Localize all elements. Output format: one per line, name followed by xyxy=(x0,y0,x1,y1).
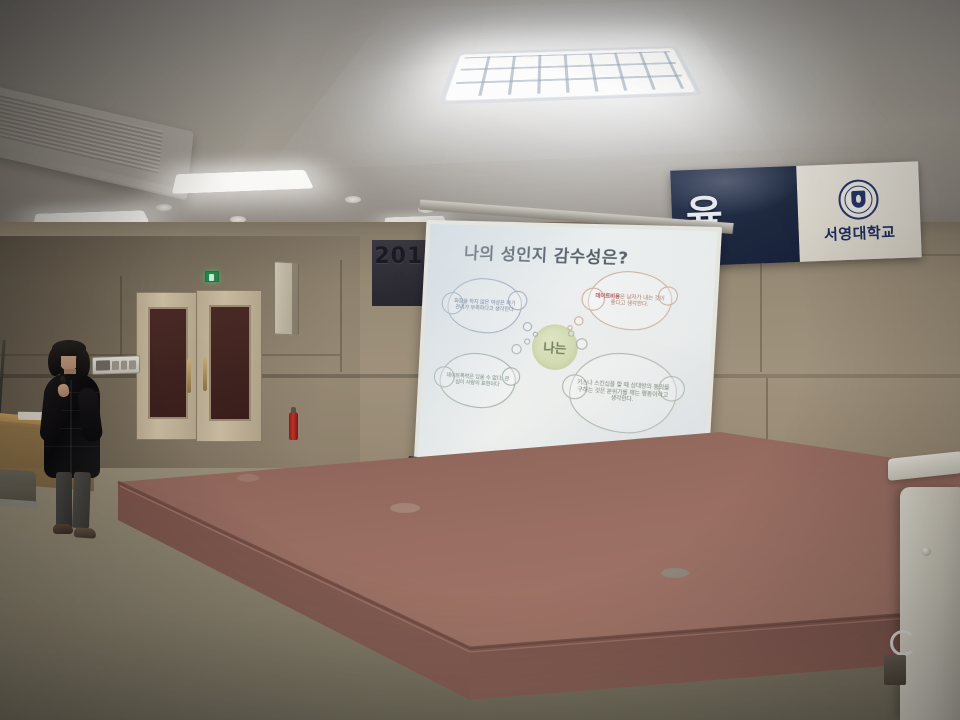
floor-equipment-box xyxy=(884,655,906,685)
podium-knob-icon[interactable] xyxy=(922,547,931,556)
slide-title: 나의 성인지 감수성은? xyxy=(464,239,630,269)
double-entry-doors[interactable] xyxy=(136,292,198,440)
banner-white-section: 서영대학교 xyxy=(796,161,922,262)
presenter-pants-left xyxy=(56,472,72,528)
presenter-glasses xyxy=(60,355,78,360)
control-panel-switch[interactable] xyxy=(129,360,136,369)
projected-slide: 나의 성인지 감수성은? 나는 화장을 하지 않은 여성은 자기관리가 부족하다… xyxy=(418,224,718,484)
presenter-shoe-left xyxy=(53,524,73,534)
control-panel-switch[interactable] xyxy=(121,360,128,369)
downlight-icon xyxy=(345,196,361,203)
wall-speaker-column xyxy=(274,261,299,335)
door-panel xyxy=(209,305,251,421)
door-handle[interactable] xyxy=(187,359,191,393)
recessed-fluorescent-grid-light xyxy=(445,48,696,100)
university-name: 서영대학교 xyxy=(824,221,896,245)
banner-subtitle: 교육·연수 xyxy=(393,271,422,280)
door-handle[interactable] xyxy=(203,357,207,391)
lecture-hall-photo: 2019 교육·연수 육 서영대학교 나의 성인지 감수성은? 나는 xyxy=(0,0,960,720)
light-rim xyxy=(438,46,703,105)
projector-screen: 나의 성인지 감수성은? 나는 화장을 하지 않은 여성은 자기관리가 부족하다… xyxy=(424,224,698,460)
entry-door-right[interactable] xyxy=(196,290,262,442)
presenter-speaker xyxy=(36,340,108,540)
thought-bubble-top-left: 화장을 하지 않은 여성은 자기관리가 부족하다고 생각한다 xyxy=(446,277,523,335)
door-panel xyxy=(148,307,188,419)
slide-center-label: 나는 xyxy=(543,338,567,357)
university-seal-icon xyxy=(838,179,880,221)
thought-bubble-top-right: 데이트비용은 남자가 내는 것이 좋다고 생각한다. xyxy=(586,270,673,333)
presenter-pants-right xyxy=(72,472,91,529)
presenter-hair-left xyxy=(48,348,61,376)
wall-panel-seam xyxy=(760,254,762,372)
fire-extinguisher[interactable] xyxy=(289,412,298,440)
emergency-exit-sign xyxy=(205,271,219,282)
thought-bubble-bottom-left: 데이트폭력은 있을 수 없다. 관심이 사랑의 표현이다 xyxy=(438,351,517,411)
wall-panel-seam xyxy=(766,378,768,498)
control-panel-switch[interactable] xyxy=(112,360,119,369)
white-podium[interactable] xyxy=(900,487,960,720)
coiled-cable xyxy=(890,630,916,656)
thought-bubble-bottom-right: 키스나 스킨십을 할 때 상대방의 동의를 구하는 것은 분위기를 깨는 행동이… xyxy=(567,350,679,437)
presenter-shoe-right xyxy=(74,527,97,539)
